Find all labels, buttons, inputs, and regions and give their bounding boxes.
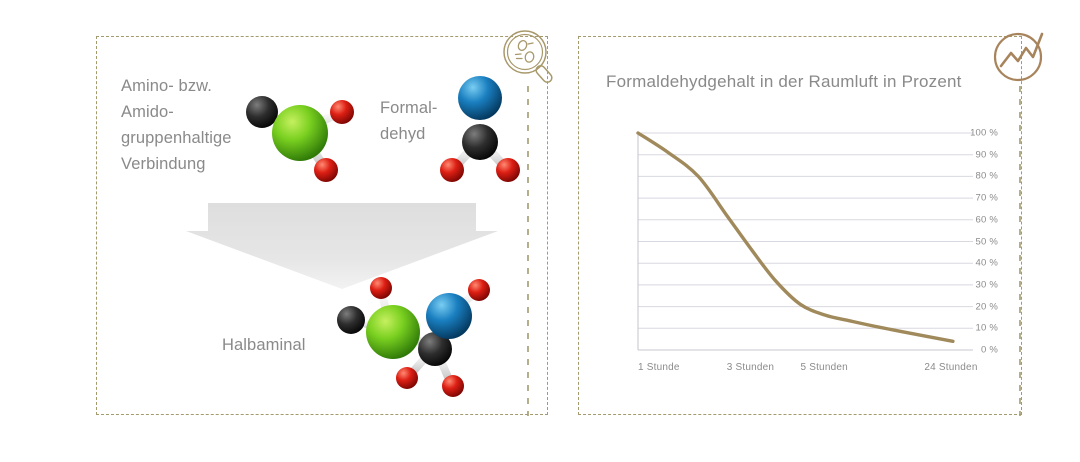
chart-y-tick-label: 30 % [965, 279, 998, 290]
chart-title: Formaldehydgehalt in der Raumluft in Pro… [606, 72, 962, 92]
trend-dash-tail [1018, 86, 1022, 416]
chart-y-tick-label: 50 % [965, 236, 998, 247]
line-chart: 100 %90 %80 %70 %60 %50 %40 %30 %20 %10 … [598, 120, 998, 385]
chart-y-tick-label: 90 % [965, 149, 998, 160]
hemiaminal-molecule [325, 272, 500, 400]
chart-x-tick-label: 5 Stunden [800, 362, 847, 373]
chart-y-tick-label: 10 % [965, 323, 998, 334]
formaldehyde-molecule [434, 70, 526, 190]
chart-y-tick-label: 20 % [965, 301, 998, 312]
chart-x-tick-label: 3 Stunden [727, 362, 774, 373]
chart-y-tick-label: 40 % [965, 258, 998, 269]
amino-compound-molecule [238, 78, 366, 190]
chart-svg [598, 120, 998, 385]
chart-y-tick-label: 0 % [965, 345, 998, 356]
infographic-stage: Amino- bzw. Amido- gruppenhaltige Verbin… [0, 0, 1080, 462]
trend-line-circle-icon [988, 26, 1054, 92]
label-halbaminal: Halbaminal [222, 336, 306, 355]
chart-y-tick-label: 70 % [965, 193, 998, 204]
downward-reaction-arrow [186, 203, 498, 289]
chart-y-tick-label: 80 % [965, 171, 998, 182]
chart-x-tick-label: 1 Stunde [638, 362, 680, 373]
magnifier-dash-tail [526, 86, 530, 416]
chart-x-tick-label: 24 Stunden [924, 362, 977, 373]
chart-y-tick-label: 100 % [965, 128, 998, 139]
chart-series-line [638, 133, 953, 341]
chart-y-tick-label: 60 % [965, 214, 998, 225]
